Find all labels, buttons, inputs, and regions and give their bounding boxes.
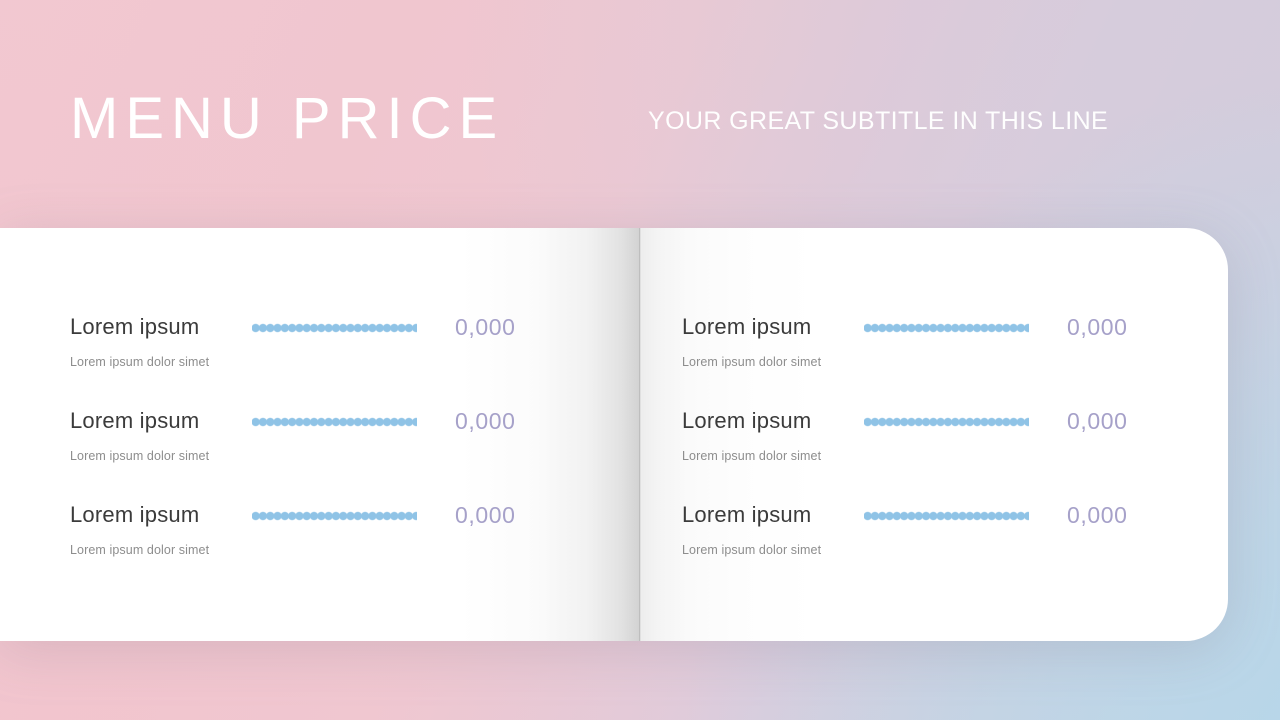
menu-item-headline: Lorem ipsum 0,000 <box>70 502 640 528</box>
dotted-leader-line <box>252 414 417 430</box>
menu-item-headline: Lorem ipsum 0,000 <box>682 502 1228 528</box>
menu-item-row[interactable]: Lorem ipsum 0,000 Lorem ipsum dolor sime… <box>70 408 640 502</box>
menu-item-price: 0,000 <box>1067 502 1128 529</box>
dotted-leader-line <box>864 414 1029 430</box>
book-spine-crease <box>639 228 641 641</box>
menu-item-price: 0,000 <box>455 502 516 529</box>
menu-item-description: Lorem ipsum dolor simet <box>682 449 1228 463</box>
menu-right-list: Lorem ipsum 0,000 Lorem ipsum dolor sime… <box>640 228 1228 641</box>
menu-item-description: Lorem ipsum dolor simet <box>682 355 1228 369</box>
page-title: MENU PRICE <box>70 90 504 148</box>
dotted-leader-line <box>252 320 417 336</box>
menu-item-headline: Lorem ipsum 0,000 <box>70 408 640 434</box>
menu-item-name: Lorem ipsum <box>70 502 252 528</box>
menu-item-name: Lorem ipsum <box>70 408 252 434</box>
menu-item-headline: Lorem ipsum 0,000 <box>682 314 1228 340</box>
dotted-leader-line <box>864 508 1029 524</box>
menu-item-headline: Lorem ipsum 0,000 <box>682 408 1228 434</box>
menu-item-name: Lorem ipsum <box>682 502 864 528</box>
menu-right-page: Lorem ipsum 0,000 Lorem ipsum dolor sime… <box>640 228 1228 641</box>
menu-left-list: Lorem ipsum 0,000 Lorem ipsum dolor sime… <box>0 228 640 641</box>
menu-item-row[interactable]: Lorem ipsum 0,000 Lorem ipsum dolor sime… <box>682 314 1228 408</box>
page-subtitle: YOUR GREAT SUBTITLE IN THIS LINE <box>648 107 1108 136</box>
menu-item-price: 0,000 <box>1067 408 1128 435</box>
menu-item-price: 0,000 <box>455 314 516 341</box>
menu-item-headline: Lorem ipsum 0,000 <box>70 314 640 340</box>
menu-item-row[interactable]: Lorem ipsum 0,000 Lorem ipsum dolor sime… <box>70 314 640 408</box>
dotted-leader-line <box>864 320 1029 336</box>
header-band: MENU PRICE YOUR GREAT SUBTITLE IN THIS L… <box>0 0 1280 228</box>
slide-canvas: MENU PRICE YOUR GREAT SUBTITLE IN THIS L… <box>0 0 1280 720</box>
menu-item-description: Lorem ipsum dolor simet <box>70 449 640 463</box>
menu-item-name: Lorem ipsum <box>70 314 252 340</box>
menu-item-price: 0,000 <box>1067 314 1128 341</box>
menu-item-name: Lorem ipsum <box>682 408 864 434</box>
menu-item-description: Lorem ipsum dolor simet <box>682 543 1228 557</box>
menu-item-price: 0,000 <box>455 408 516 435</box>
menu-item-row[interactable]: Lorem ipsum 0,000 Lorem ipsum dolor sime… <box>682 502 1228 596</box>
menu-card: Lorem ipsum 0,000 Lorem ipsum dolor sime… <box>0 228 1228 641</box>
menu-item-description: Lorem ipsum dolor simet <box>70 355 640 369</box>
menu-item-name: Lorem ipsum <box>682 314 864 340</box>
menu-left-page: Lorem ipsum 0,000 Lorem ipsum dolor sime… <box>0 228 640 641</box>
menu-item-row[interactable]: Lorem ipsum 0,000 Lorem ipsum dolor sime… <box>70 502 640 596</box>
menu-item-row[interactable]: Lorem ipsum 0,000 Lorem ipsum dolor sime… <box>682 408 1228 502</box>
menu-item-description: Lorem ipsum dolor simet <box>70 543 640 557</box>
dotted-leader-line <box>252 508 417 524</box>
